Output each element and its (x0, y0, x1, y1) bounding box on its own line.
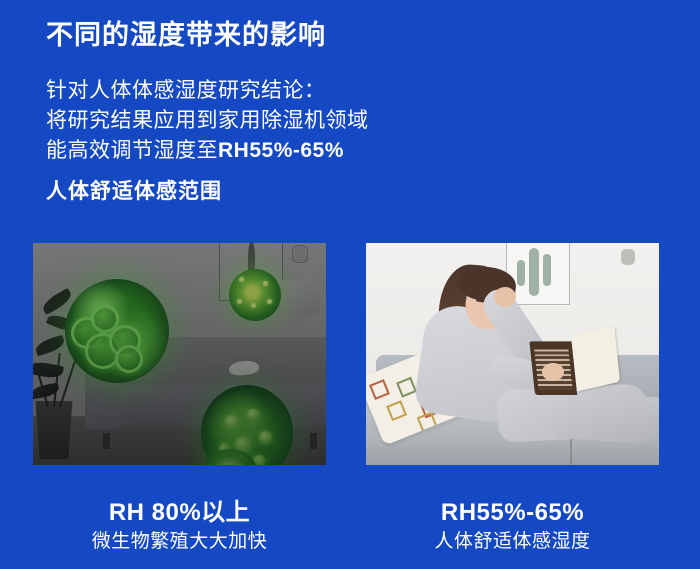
caption-comfort-humidity: RH55%-65% 人体舒适体感湿度 (366, 498, 659, 556)
book-page-right (571, 326, 620, 392)
body-line-3-range: RH55%-65% (218, 139, 344, 162)
sofa-leg (103, 433, 110, 449)
wall-knob-dark (292, 245, 308, 263)
microbe-dot (253, 455, 265, 465)
microbe-sphere-bottom (201, 385, 293, 465)
microbe-spike (239, 277, 244, 282)
caption-title-right: RH55%-65% (366, 498, 659, 528)
microbe-cell (115, 345, 143, 373)
open-book (529, 329, 619, 399)
plant-leaf (40, 288, 74, 315)
wall-surface (33, 243, 326, 416)
microbe-cluster-large (65, 279, 169, 383)
plant-stem (53, 353, 61, 407)
plant-leaf (46, 312, 78, 334)
microbe-spike (263, 281, 268, 286)
plant-stem (59, 350, 79, 408)
plant-leaf (33, 360, 64, 381)
page-title: 不同的湿度带来的影响 (46, 17, 326, 53)
microbe-dot (247, 409, 259, 421)
caption-title-left: RH 80%以上 (33, 498, 326, 528)
microbe-spike (237, 299, 242, 304)
microbe-sphere-small (229, 269, 281, 321)
body-copy: 针对人体体感湿度研究结论： 将研究结果应用到家用除湿机领域 能高效调节湿度至RH… (46, 76, 466, 207)
microbe-cell (85, 333, 121, 369)
microbe-spike (267, 299, 272, 304)
floor-surface (33, 416, 326, 465)
microbe-sphere-edge (203, 449, 257, 465)
microbe-dot (235, 437, 251, 453)
microbe-dot (259, 431, 272, 444)
hand-on-forehead (494, 287, 516, 307)
plant-leaf (33, 383, 60, 400)
body-line-1: 针对人体体感湿度研究结论： (46, 76, 466, 106)
microbe-dot (219, 443, 230, 454)
microbe-spike (251, 303, 256, 308)
body-line-2: 将研究结果应用到家用除湿机领域 (46, 106, 466, 136)
microbe-ring (33, 243, 77, 303)
sofa-arm (85, 371, 121, 429)
microbe-cell (109, 325, 141, 357)
caption-sub-left: 微生物繁殖大大加快 (33, 528, 326, 556)
body-line-4: 人体舒适体感范围 (46, 177, 466, 207)
microbe-cell (71, 317, 103, 349)
hand-holding-book (542, 363, 564, 381)
body-line-3-prefix: 能高效调节湿度至 (46, 139, 218, 162)
sofa-seat (95, 385, 326, 427)
wall-art-frame-dark (219, 243, 283, 301)
pillow-motif (369, 379, 390, 400)
sofa-leg (310, 433, 317, 449)
sofa-dark (85, 337, 326, 449)
body-line-3: 能高效调节湿度至RH55%-65% (46, 136, 466, 166)
panel-comfort-humidity (366, 243, 659, 465)
humidity-infographic-poster: 不同的湿度带来的影响 针对人体体感湿度研究结论： 将研究结果应用到家用除湿机领域… (0, 0, 700, 569)
microbe-sphere-tiny (209, 457, 253, 465)
sofa-cushion-dark (274, 277, 320, 320)
legs-pants-lower (551, 397, 658, 444)
microbe-cell (91, 305, 119, 333)
photo-microbe-room (33, 243, 326, 465)
sofa-backrest (113, 337, 326, 393)
plant-pot-dark (33, 401, 75, 459)
plant-stem (34, 363, 49, 408)
caption-high-humidity: RH 80%以上 微生物繁殖大大加快 (33, 498, 326, 556)
photo-woman-reading (366, 243, 659, 465)
caption-sub-right: 人体舒适体感湿度 (366, 528, 659, 556)
plant-leaf (34, 335, 67, 357)
panel-high-humidity (33, 243, 326, 465)
white-decor-object (228, 359, 260, 377)
microbe-dot (225, 415, 239, 429)
wall-art-twig (248, 243, 255, 290)
person-reading (402, 251, 642, 451)
